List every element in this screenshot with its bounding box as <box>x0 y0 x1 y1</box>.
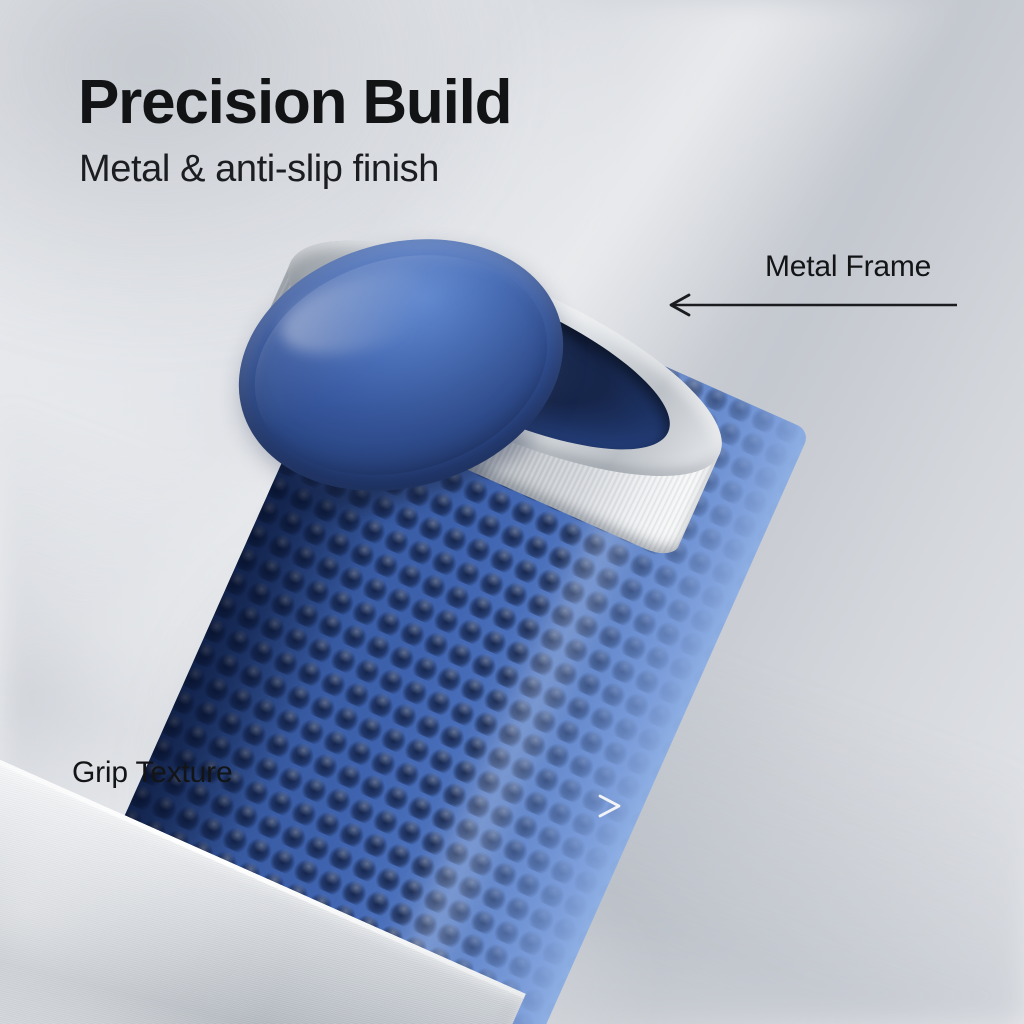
callout-grip-texture: Grip Texture <box>60 758 632 818</box>
product-hero-image: Precision Build Metal & anti-slip finish… <box>0 0 1024 1024</box>
callout-grip-texture-arrow-icon <box>60 758 632 818</box>
callout-metal-frame: Metal Frame <box>660 252 970 322</box>
callout-metal-frame-arrow-icon <box>660 252 970 322</box>
page-subtitle: Metal & anti-slip finish <box>79 150 439 188</box>
page-title: Precision Build <box>78 72 511 134</box>
